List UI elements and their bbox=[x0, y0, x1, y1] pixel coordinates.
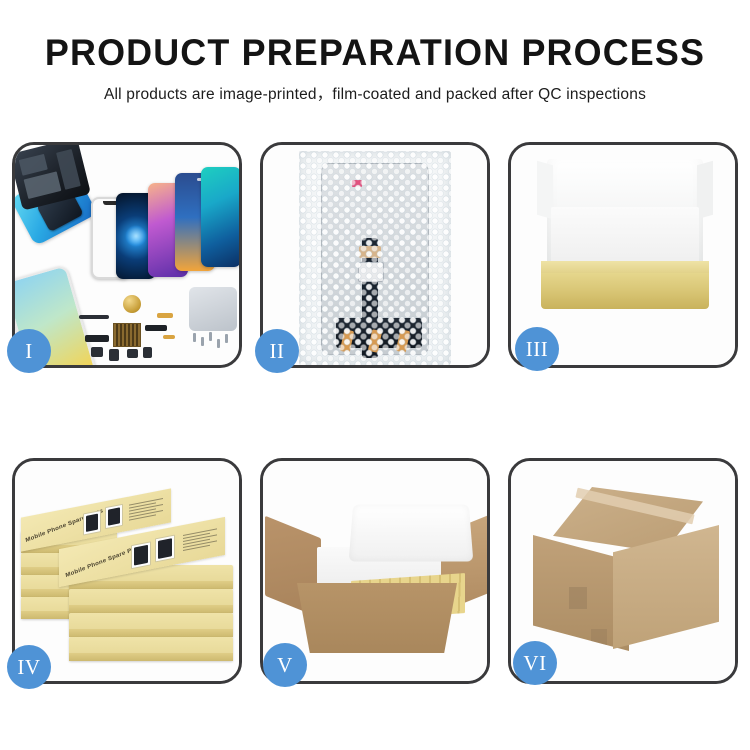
step-badge-4: IV bbox=[7, 645, 51, 689]
speaker-module bbox=[109, 349, 119, 361]
ic-chip-grid bbox=[113, 323, 141, 347]
process-step-6[interactable]: VI bbox=[508, 458, 738, 684]
process-step-grid: I II III bbox=[12, 142, 738, 684]
shipping-carton-open bbox=[289, 521, 467, 653]
camera-module bbox=[91, 347, 103, 357]
process-step-4[interactable]: Mobile Phone Spare Parts Mobile Phone Sp… bbox=[12, 458, 242, 684]
screen-print-image bbox=[131, 541, 151, 569]
step-badge-3: III bbox=[515, 327, 559, 371]
process-step-2[interactable]: II bbox=[260, 142, 490, 368]
step-badge-1: I bbox=[7, 329, 51, 373]
sim-tray bbox=[127, 349, 138, 358]
box-stack: Mobile Phone Spare Parts Mobile Phone Sp… bbox=[21, 485, 239, 665]
power-button-flex bbox=[145, 325, 167, 331]
step-1-image bbox=[15, 145, 239, 365]
step-4-image: Mobile Phone Spare Parts Mobile Phone Sp… bbox=[15, 461, 239, 681]
repair-tool bbox=[189, 287, 237, 331]
page-header: PRODUCT PREPARATION PROCESS All products… bbox=[0, 0, 750, 104]
carton-seam-tab bbox=[591, 629, 607, 645]
earpiece-mesh bbox=[79, 315, 109, 319]
phone-parts-scene bbox=[15, 145, 239, 365]
carton-seam-tab bbox=[569, 587, 587, 609]
page-title: PRODUCT PREPARATION PROCESS bbox=[11, 34, 739, 73]
small-components-group bbox=[79, 295, 189, 365]
step-2-image bbox=[263, 145, 487, 365]
sealed-carton bbox=[533, 487, 719, 659]
process-step-1[interactable]: I bbox=[12, 142, 242, 368]
screen-print-image bbox=[83, 510, 101, 535]
foam-lid bbox=[349, 505, 474, 562]
carton-front-panel bbox=[297, 583, 457, 653]
gold-flex-connector bbox=[157, 313, 173, 318]
bubble-texture-overlay bbox=[299, 151, 451, 365]
process-step-3[interactable]: III bbox=[508, 142, 738, 368]
stacked-box bbox=[69, 637, 233, 661]
step-badge-5: V bbox=[263, 643, 307, 687]
stacked-box bbox=[69, 589, 233, 613]
charging-port bbox=[143, 347, 152, 358]
volume-flex bbox=[85, 335, 109, 342]
phone-display-teal bbox=[201, 167, 239, 267]
kraft-box-tray bbox=[541, 271, 709, 309]
screen-print-image bbox=[105, 504, 123, 529]
spec-lines bbox=[129, 498, 163, 523]
screws-group bbox=[191, 331, 233, 357]
step-badge-6: VI bbox=[513, 641, 557, 685]
stacked-box bbox=[69, 613, 233, 637]
vibration-motor bbox=[123, 295, 141, 313]
step-badge-2: II bbox=[255, 329, 299, 373]
gold-contact bbox=[163, 335, 175, 339]
process-step-5[interactable]: V bbox=[260, 458, 490, 684]
bubble-wrap-bag bbox=[299, 151, 451, 365]
spec-lines bbox=[183, 528, 217, 553]
screen-print-image bbox=[155, 535, 175, 563]
page-subtitle: All products are image-printed，film-coat… bbox=[0, 82, 750, 104]
